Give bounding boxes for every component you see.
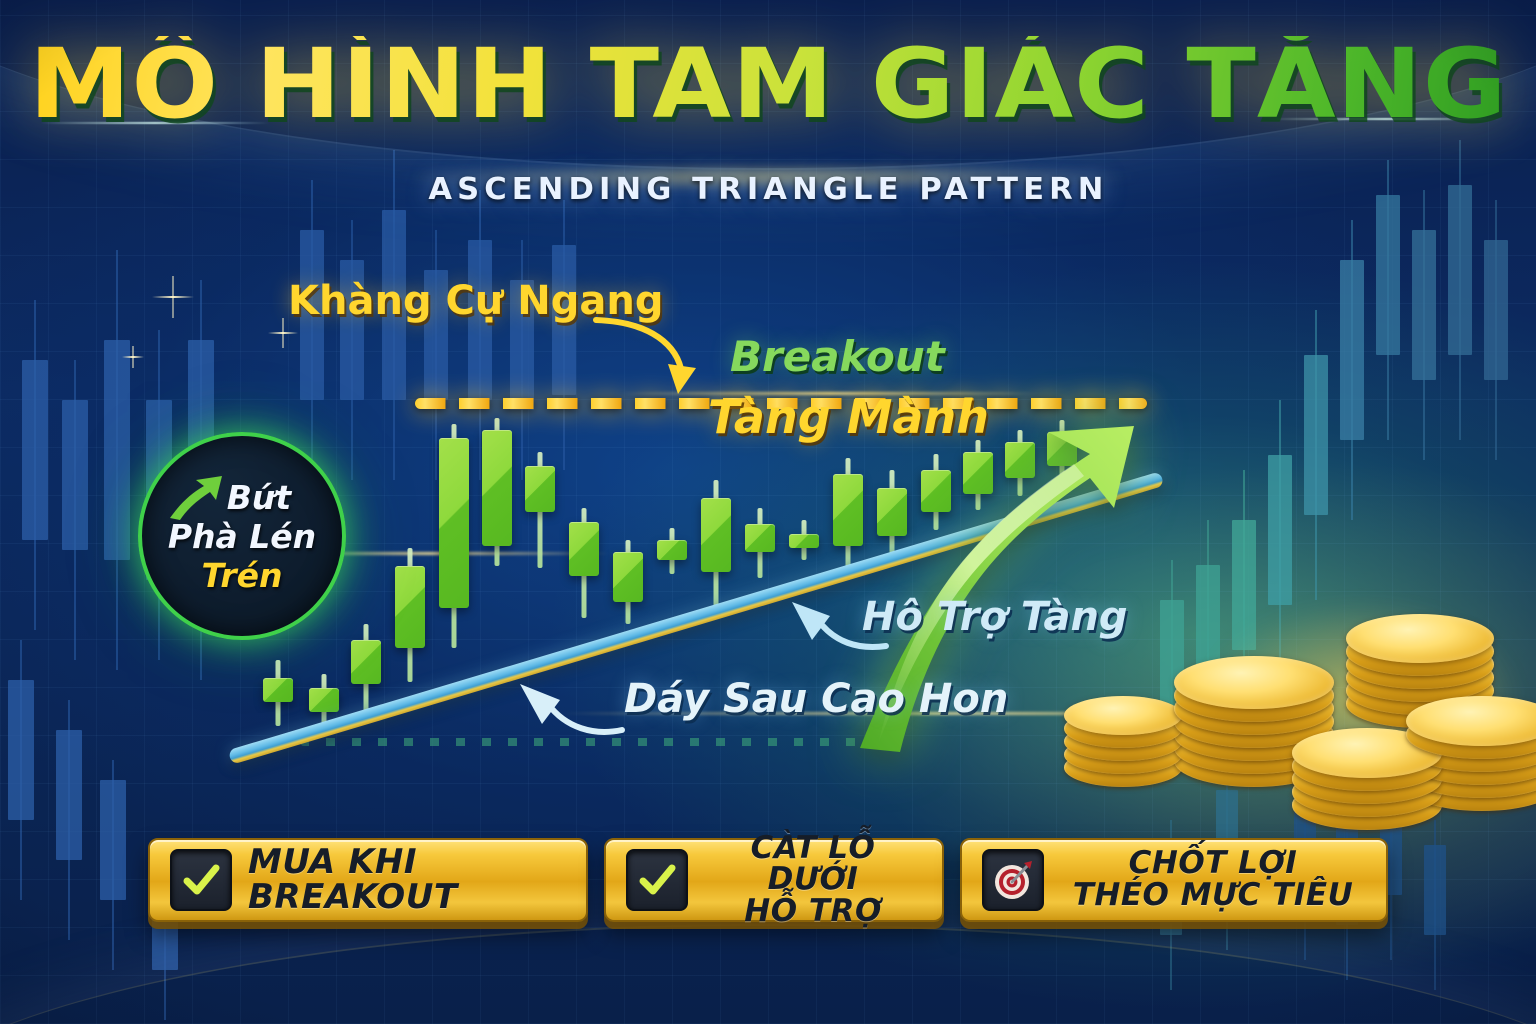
candle-5 xyxy=(482,418,512,566)
target-icon-box xyxy=(982,849,1044,911)
button-stop-loss-below-support[interactable]: CÀT LỖ DƯỚI HỖ TRỢ xyxy=(604,838,944,922)
button-label-1-line2: HỖ TRỢ xyxy=(704,896,922,928)
resistance-arrow-icon xyxy=(590,312,700,408)
candle-4 xyxy=(439,424,469,648)
check-icon-box xyxy=(626,849,688,911)
infographic-root: MÔ HÌNH TAM GIÁC TĂNG ASCENDING TRIANGLE… xyxy=(0,0,1536,1024)
check-icon-box xyxy=(170,849,232,911)
higher-lows-arrow-icon xyxy=(506,674,626,750)
check-icon xyxy=(181,860,221,900)
button-label-2-line2: THÉO MỰC TIÊU xyxy=(1060,880,1366,912)
badge-line-1: Bứt xyxy=(227,478,291,517)
check-icon xyxy=(637,860,677,900)
cta-button-row: MUA KHI BREAKOUT CÀT LỖ DƯỚI HỖ TRỢ xyxy=(0,820,1536,940)
button-take-profit-at-target[interactable]: CHỐT LỢI THÉO MỰC TIÊU xyxy=(960,838,1388,922)
support-arrow-icon xyxy=(782,592,892,664)
button-label-group-1: CÀT LỖ DƯỚI HỖ TRỢ xyxy=(704,833,922,928)
button-label-group-2: CHỐT LỢI THÉO MỰC TIÊU xyxy=(1060,848,1366,911)
coin xyxy=(1064,696,1182,735)
candle-7 xyxy=(569,508,599,618)
label-breakout-line2: Tàng Mành xyxy=(708,390,989,444)
title-text: MÔ HÌNH TAM GIÁC TĂNG xyxy=(29,36,1507,134)
sparkle-icon-3 xyxy=(122,346,144,368)
coin xyxy=(1174,656,1334,709)
button-label-0: MUA KHI BREAKOUT xyxy=(248,845,566,914)
candle-11 xyxy=(745,508,775,578)
breakout-badge[interactable]: Bứt Phà Lén Trén xyxy=(138,432,346,640)
button-buy-on-breakout[interactable]: MUA KHI BREAKOUT xyxy=(148,838,588,922)
sparkle-icon-1 xyxy=(152,276,194,318)
badge-line-2: Phà Lén xyxy=(168,517,316,556)
candle-2 xyxy=(351,624,381,712)
button-label-2-line1: CHỐT LỢI xyxy=(1060,848,1366,880)
page-title: MÔ HÌNH TAM GIÁC TĂNG xyxy=(0,36,1536,134)
candle-12 xyxy=(789,520,819,560)
label-higher-lows: Dáy Sau Cao Hon xyxy=(624,676,1008,722)
candle-0 xyxy=(263,660,293,726)
candle-3 xyxy=(395,548,425,682)
button-label-1-line1: CÀT LỖ DƯỚI xyxy=(704,833,922,896)
candle-8 xyxy=(613,540,643,624)
gold-coins-illustration xyxy=(1046,588,1516,818)
coin-stack-0 xyxy=(1064,696,1182,791)
up-arrow-icon xyxy=(168,474,224,522)
badge-line-3: Trén xyxy=(201,556,282,595)
label-breakout-line1: Breakout xyxy=(730,332,945,381)
candle-10 xyxy=(701,480,731,608)
candle-9 xyxy=(657,528,687,574)
target-icon xyxy=(991,858,1035,902)
candle-6 xyxy=(525,452,555,568)
coin xyxy=(1346,614,1494,663)
